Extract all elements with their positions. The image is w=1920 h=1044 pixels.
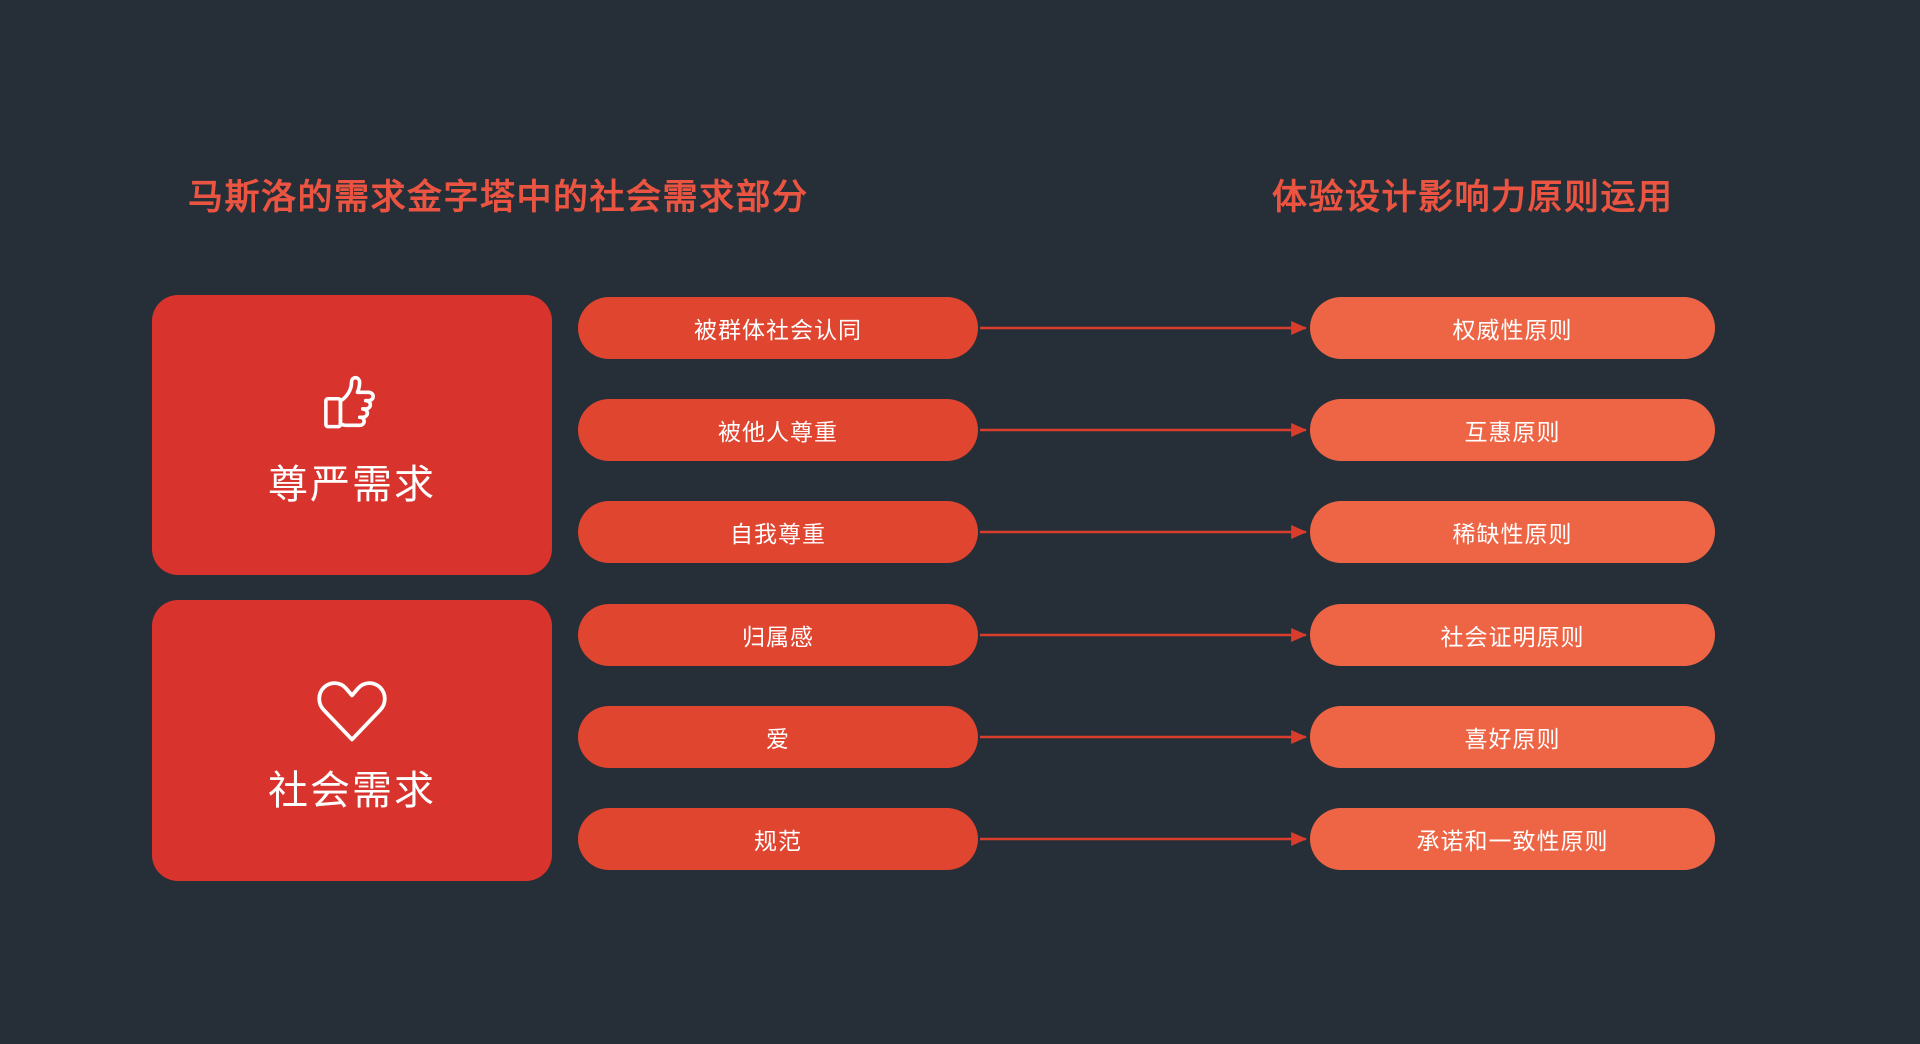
need-card-social[interactable]: 社会需求 bbox=[152, 600, 552, 881]
need-pill-label: 规范 bbox=[754, 822, 802, 856]
need-pill-label: 自我尊重 bbox=[730, 515, 826, 549]
need-pill[interactable]: 归属感 bbox=[578, 604, 978, 666]
principle-pill-label: 喜好原则 bbox=[1465, 720, 1561, 754]
need-card-label: 尊严需求 bbox=[268, 463, 436, 507]
principle-pill[interactable]: 互惠原则 bbox=[1310, 399, 1715, 461]
need-pill[interactable]: 被他人尊重 bbox=[578, 399, 978, 461]
need-pill[interactable]: 爱 bbox=[578, 706, 978, 768]
need-card-dignity[interactable]: 尊严需求 bbox=[152, 295, 552, 575]
thumbs-up-icon bbox=[310, 363, 394, 447]
principle-pill[interactable]: 喜好原则 bbox=[1310, 706, 1715, 768]
need-card-label: 社会需求 bbox=[268, 769, 436, 813]
need-pill[interactable]: 规范 bbox=[578, 808, 978, 870]
need-pill-label: 被群体社会认同 bbox=[694, 311, 862, 345]
need-pill[interactable]: 自我尊重 bbox=[578, 501, 978, 563]
need-pill-label: 归属感 bbox=[742, 618, 814, 652]
heading-left: 马斯洛的需求金字塔中的社会需求部分 bbox=[188, 180, 809, 215]
heading-right: 体验设计影响力原则运用 bbox=[1272, 180, 1674, 215]
principle-pill[interactable]: 权威性原则 bbox=[1310, 297, 1715, 359]
diagram-canvas: 马斯洛的需求金字塔中的社会需求部分 体验设计影响力原则运用 尊严需求 社会需求 … bbox=[0, 0, 1920, 1044]
principle-pill-label: 承诺和一致性原则 bbox=[1417, 822, 1609, 856]
need-pill[interactable]: 被群体社会认同 bbox=[578, 297, 978, 359]
principle-pill[interactable]: 稀缺性原则 bbox=[1310, 501, 1715, 563]
heart-icon bbox=[310, 669, 394, 753]
principle-pill-label: 稀缺性原则 bbox=[1453, 515, 1573, 549]
principle-pill-label: 互惠原则 bbox=[1465, 413, 1561, 447]
principle-pill[interactable]: 社会证明原则 bbox=[1310, 604, 1715, 666]
principle-pill[interactable]: 承诺和一致性原则 bbox=[1310, 808, 1715, 870]
need-pill-label: 被他人尊重 bbox=[718, 413, 838, 447]
need-pill-label: 爱 bbox=[766, 720, 790, 754]
principle-pill-label: 社会证明原则 bbox=[1441, 618, 1585, 652]
principle-pill-label: 权威性原则 bbox=[1453, 311, 1573, 345]
